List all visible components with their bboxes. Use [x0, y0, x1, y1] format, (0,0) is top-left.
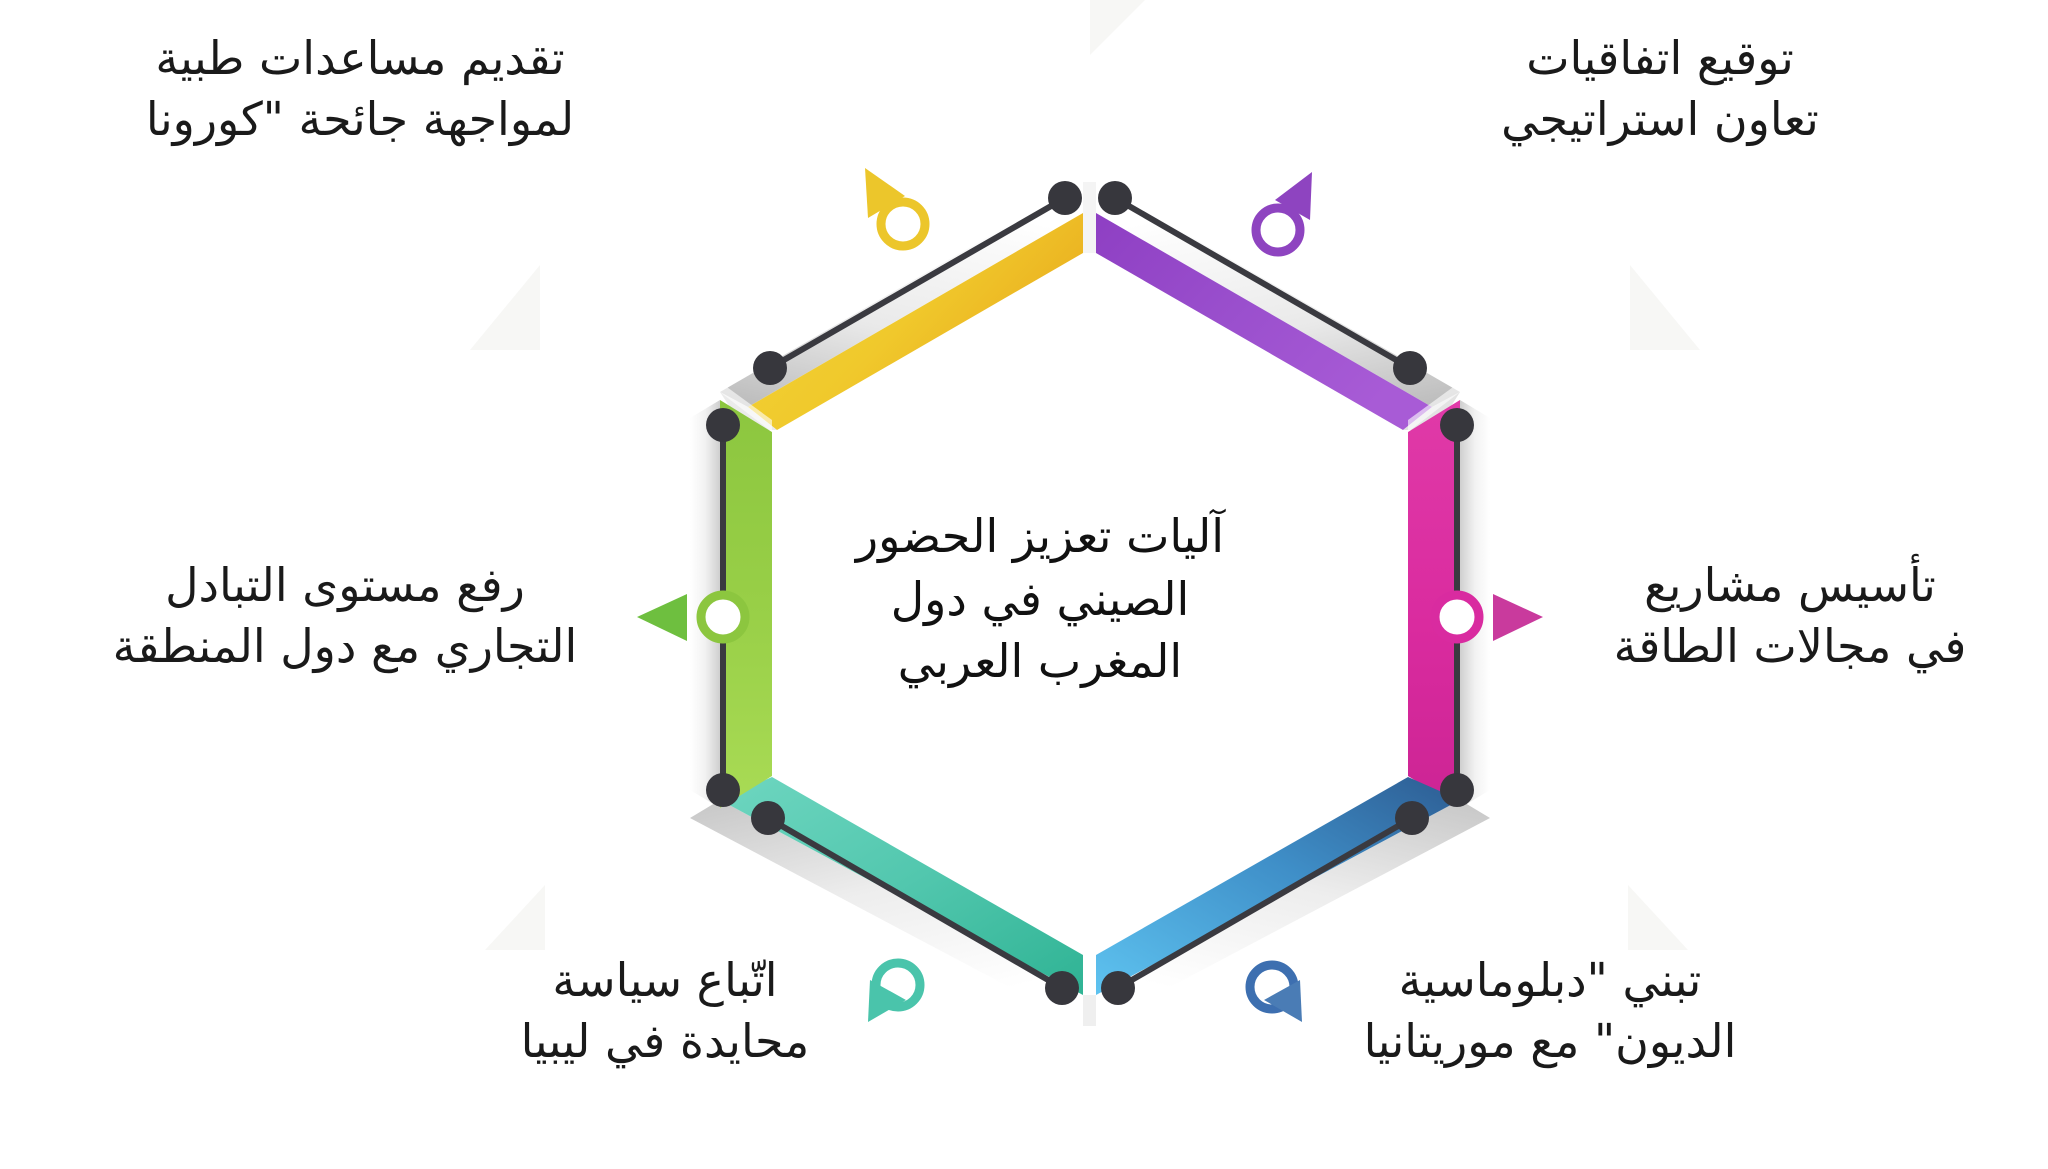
- ring-marker-top-left[interactable]: [881, 202, 925, 246]
- connector-dot: [753, 351, 787, 385]
- ring-marker-mid-right[interactable]: [1435, 595, 1479, 639]
- center-title: آليات تعزيز الحضور الصيني في دول المغرب …: [810, 505, 1270, 693]
- connector-dot: [1048, 181, 1082, 215]
- ring-marker-top-right[interactable]: [1256, 208, 1300, 252]
- connector-dot: [706, 773, 740, 807]
- connector-dot: [751, 801, 785, 835]
- connector-dot: [1045, 971, 1079, 1005]
- infographic-canvas: تقديم مساعدات طبية لمواجهة جائحة "كورونا…: [0, 0, 2048, 1169]
- connector-dot: [1440, 773, 1474, 807]
- arrow-mid-right: [1493, 594, 1543, 641]
- label-bottom-right: تبني "دبلوماسية الديون" مع موريتانيا: [1290, 950, 1810, 1071]
- label-bottom-left: اتّباع سياسة محايدة في ليبيا: [420, 950, 910, 1071]
- connector-dot: [1101, 971, 1135, 1005]
- label-top-right: توقيع اتفاقيات تعاون استراتيجي: [1330, 28, 1990, 149]
- label-mid-right: تأسيس مشاريع في مجالات الطاقة: [1540, 555, 2040, 676]
- connector-dot: [1098, 181, 1132, 215]
- ring-marker-mid-left[interactable]: [701, 595, 745, 639]
- connector-dot: [1393, 351, 1427, 385]
- label-mid-left: رفع مستوى التبادل التجاري مع دول المنطقة: [20, 555, 670, 676]
- connector-dot: [1440, 408, 1474, 442]
- label-top-left: تقديم مساعدات طبية لمواجهة جائحة "كورونا: [30, 28, 690, 149]
- connector-dot: [706, 408, 740, 442]
- connector-dot: [1395, 801, 1429, 835]
